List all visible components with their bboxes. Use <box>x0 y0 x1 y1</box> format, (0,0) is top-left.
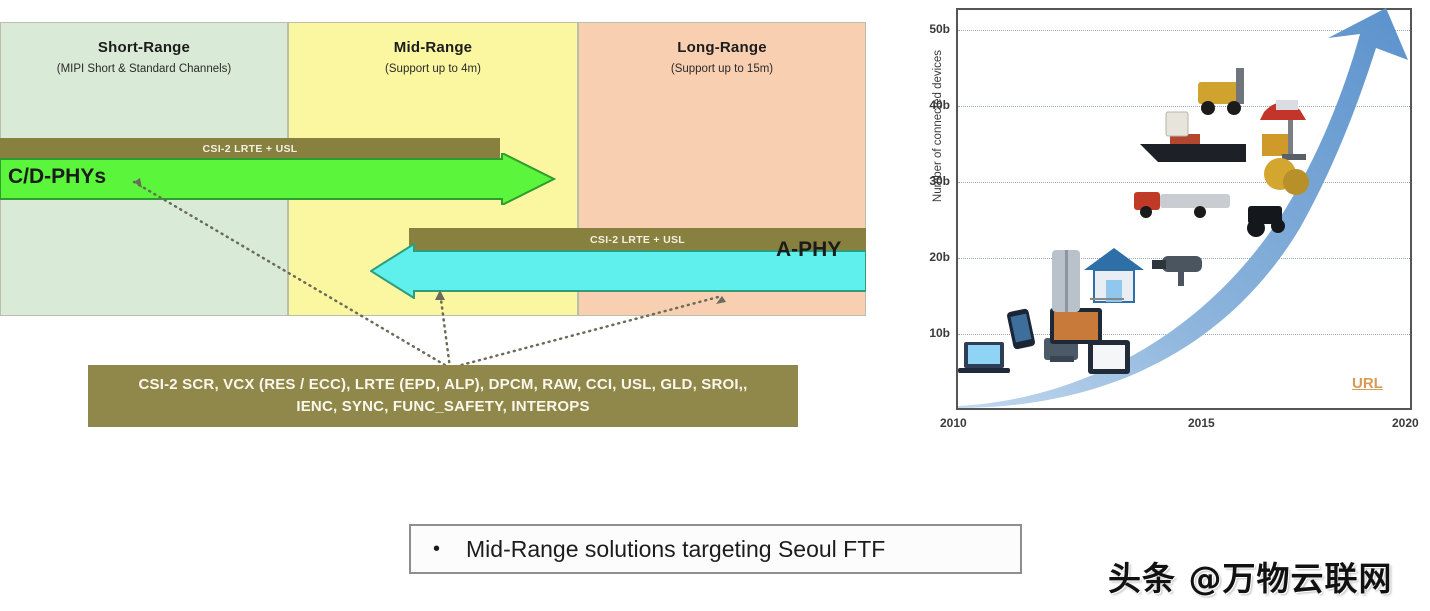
range-panel-mid-title: Mid-Range <box>289 39 577 56</box>
cd-phys-label: C/D-PHYs <box>8 165 106 189</box>
chart-source-url-link[interactable]: URL <box>1352 375 1383 392</box>
bullet-marker-icon: • <box>433 539 440 559</box>
connected-devices-chart: Number of connected devices 50b 40b 30b … <box>900 0 1430 450</box>
feature-list-line-1: CSI-2 SCR, VCX (RES / ECC), LRTE (EPD, A… <box>138 374 747 396</box>
range-panel-mid-subtitle: (Support up to 4m) <box>289 63 577 75</box>
chart-y-tick: 20b <box>900 250 950 264</box>
chart-x-tick: 2015 <box>1188 416 1215 430</box>
feature-list-line-2: IENC, SYNC, FUNC_SAFETY, INTEROPS <box>296 396 589 418</box>
chart-y-axis-label: Number of connected devices <box>932 26 944 226</box>
range-panel-long-title: Long-Range <box>579 39 865 56</box>
slide-canvas: Short-Range (MIPI Short & Standard Chann… <box>0 0 1430 611</box>
bullet-callout-text: Mid-Range solutions targeting Seoul FTF <box>466 536 885 563</box>
chart-y-tick: 40b <box>900 98 950 112</box>
chart-y-tick: 30b <box>900 174 950 188</box>
transport-icons <box>1180 28 1360 138</box>
chart-x-tick: 2020 <box>1392 416 1419 430</box>
bullet-callout-box: • Mid-Range solutions targeting Seoul FT… <box>409 524 1022 574</box>
range-panel-long-subtitle: (Support up to 15m) <box>579 63 865 75</box>
chart-y-tick: 50b <box>900 22 950 36</box>
range-panel-short-title: Short-Range <box>1 39 287 56</box>
feature-list-box: CSI-2 SCR, VCX (RES / ECC), LRTE (EPD, A… <box>88 365 798 427</box>
watermark: 头条 @万物云联网 <box>1108 552 1393 600</box>
a-phy-label: A-PHY <box>776 238 841 262</box>
chart-y-tick: 10b <box>900 326 950 340</box>
range-diagram: Short-Range (MIPI Short & Standard Chann… <box>0 22 866 316</box>
chart-x-tick: 2010 <box>940 416 967 430</box>
range-panel-short-subtitle: (MIPI Short & Standard Channels) <box>1 63 287 75</box>
